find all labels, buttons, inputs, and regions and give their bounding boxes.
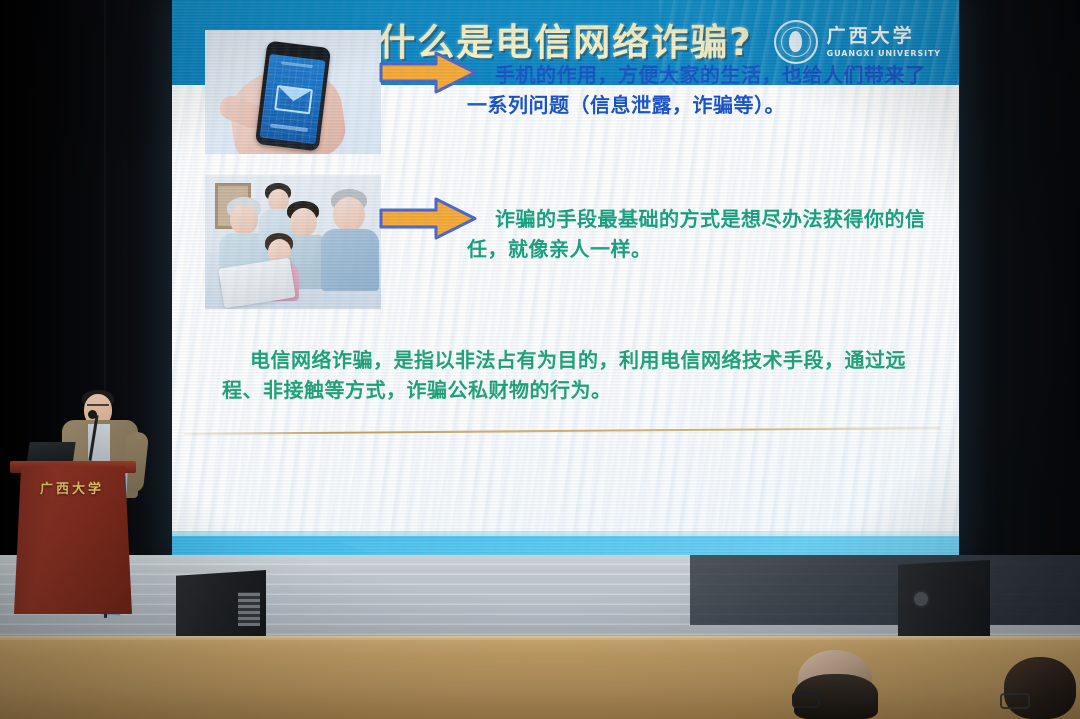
arrow-right-icon-1 bbox=[378, 50, 478, 95]
hall-backdrop-right bbox=[955, 0, 1080, 600]
audience-head bbox=[1004, 657, 1076, 719]
university-seal-icon bbox=[774, 20, 818, 64]
speaker-port bbox=[912, 590, 930, 608]
university-logo-text: 广西大学 GUANGXI UNIVERSITY bbox=[827, 27, 941, 58]
stage-front-edge bbox=[0, 640, 1080, 719]
stage-monitor-right bbox=[898, 560, 990, 638]
slide-bottom-band bbox=[172, 536, 959, 555]
hand-holding-phone-photo bbox=[205, 30, 381, 154]
grandmother-head bbox=[230, 205, 258, 235]
slide-text-definition: 电信网络诈骗，是指以非法占有为目的，利用电信网络技术手段，通过远程、非接触等方式… bbox=[222, 345, 922, 406]
university-name-en: GUANGXI UNIVERSITY bbox=[827, 50, 941, 58]
arrow-right-icon-2 bbox=[378, 196, 478, 241]
father-head bbox=[290, 208, 317, 237]
slide-background-texture bbox=[172, 85, 959, 555]
presentation-slide: 什么是电信网络诈骗? 广西大学 GUANGXI UNIVERSITY bbox=[172, 0, 959, 555]
audience-glasses bbox=[1000, 693, 1030, 709]
slide-text-phone-role: 手机的作用，方便大家的生活，也给人们带来了一系列问题（信息泄露，诈骗等）。 bbox=[467, 60, 927, 121]
photo-of-lecture-hall: 什么是电信网络诈骗? 广西大学 GUANGXI UNIVERSITY bbox=[0, 0, 1080, 719]
projection-screen: 什么是电信网络诈骗? 广西大学 GUANGXI UNIVERSITY bbox=[172, 0, 959, 555]
grandfather-body bbox=[321, 229, 379, 291]
grandfather-head bbox=[333, 197, 365, 232]
stage-floor-shadow bbox=[690, 555, 1080, 625]
smartphone-shape bbox=[255, 40, 331, 151]
slide-text-fraud-method: 诈骗的手段最基础的方式是想尽办法获得你的信任，就像亲人一样。 bbox=[467, 204, 927, 265]
speaker-grille bbox=[238, 592, 260, 626]
audience-member-1 bbox=[790, 650, 882, 719]
university-name-cn: 广西大学 bbox=[827, 27, 915, 46]
microphone-icon bbox=[88, 410, 97, 419]
audience-member-2 bbox=[1000, 655, 1080, 719]
podium-label: 广西大学 bbox=[22, 478, 122, 497]
envelope-icon bbox=[274, 85, 313, 114]
stage-monitor-left bbox=[176, 570, 266, 642]
audience-glasses bbox=[792, 692, 820, 708]
phone-screen bbox=[260, 54, 326, 144]
family-with-laptop-photo bbox=[205, 175, 381, 309]
